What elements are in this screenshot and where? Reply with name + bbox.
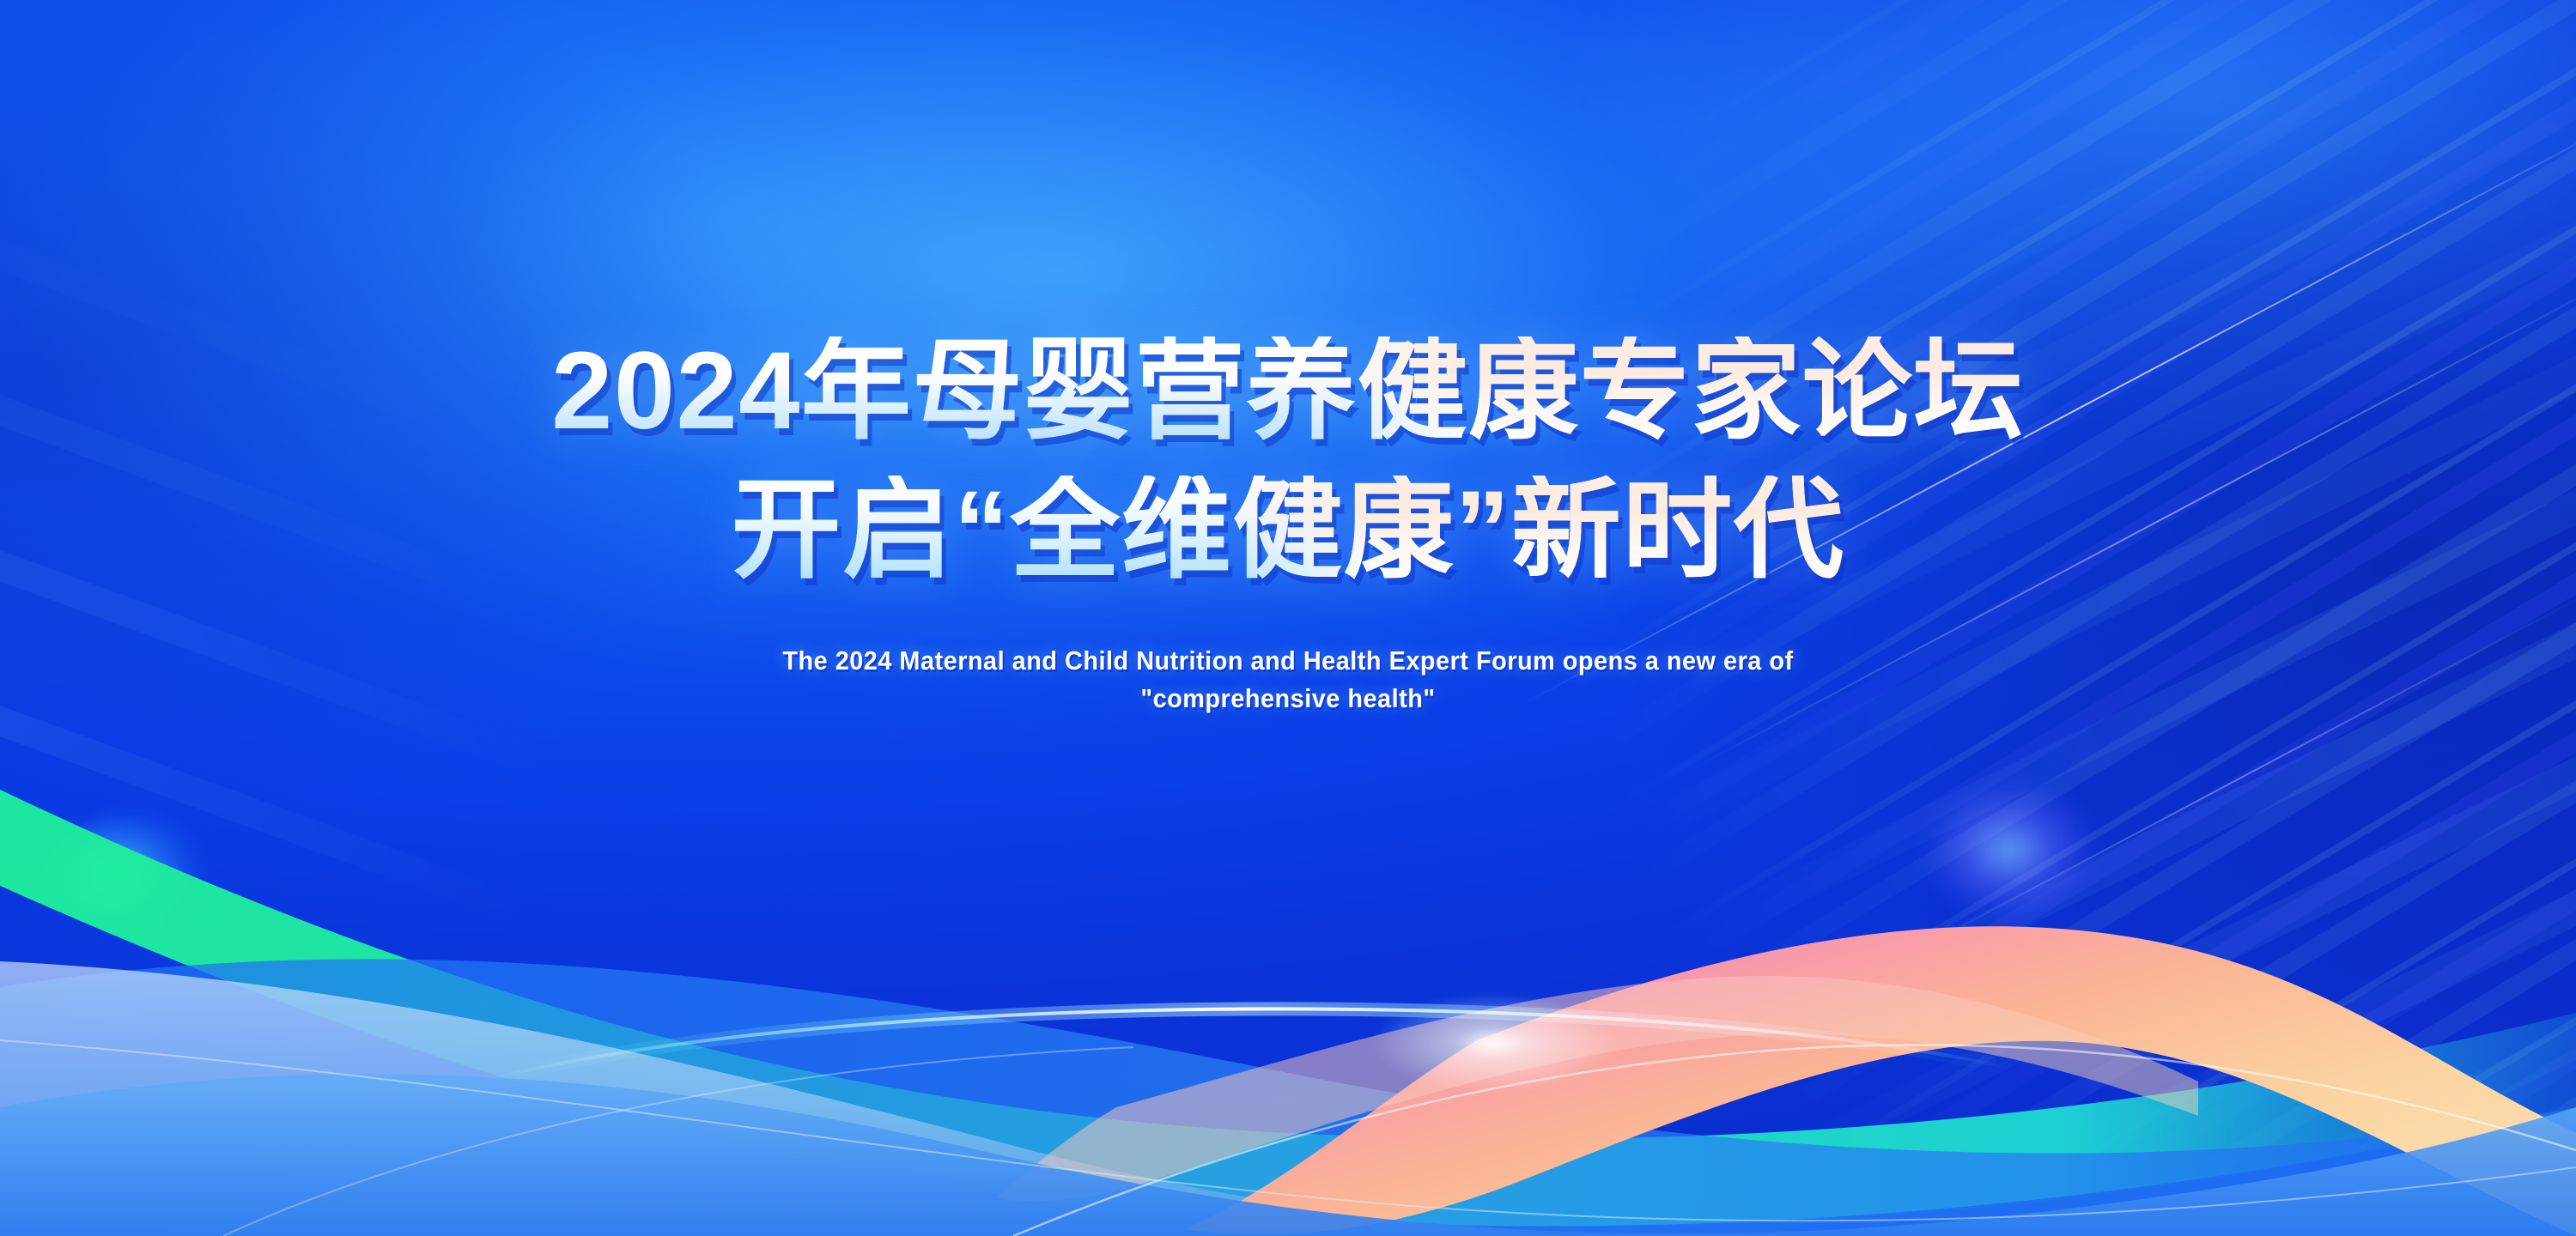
banner-title-line-2: 开启“全维健康”新时代 (732, 476, 1845, 585)
banner-content: 2024年母婴营养健康专家论坛 开启“全维健康”新时代 The 2024 Mat… (0, 0, 2576, 1236)
event-banner: 2024年母婴营养健康专家论坛 开启“全维健康”新时代 The 2024 Mat… (0, 0, 2576, 1236)
banner-title-line-1: 2024年母婴营养健康专家论坛 (551, 336, 2025, 446)
banner-subtitle-line-1: The 2024 Maternal and Child Nutrition an… (586, 642, 1991, 680)
banner-subtitle: The 2024 Maternal and Child Nutrition an… (532, 642, 2044, 718)
banner-subtitle-line-2: "comprehensive health" (586, 680, 1991, 718)
